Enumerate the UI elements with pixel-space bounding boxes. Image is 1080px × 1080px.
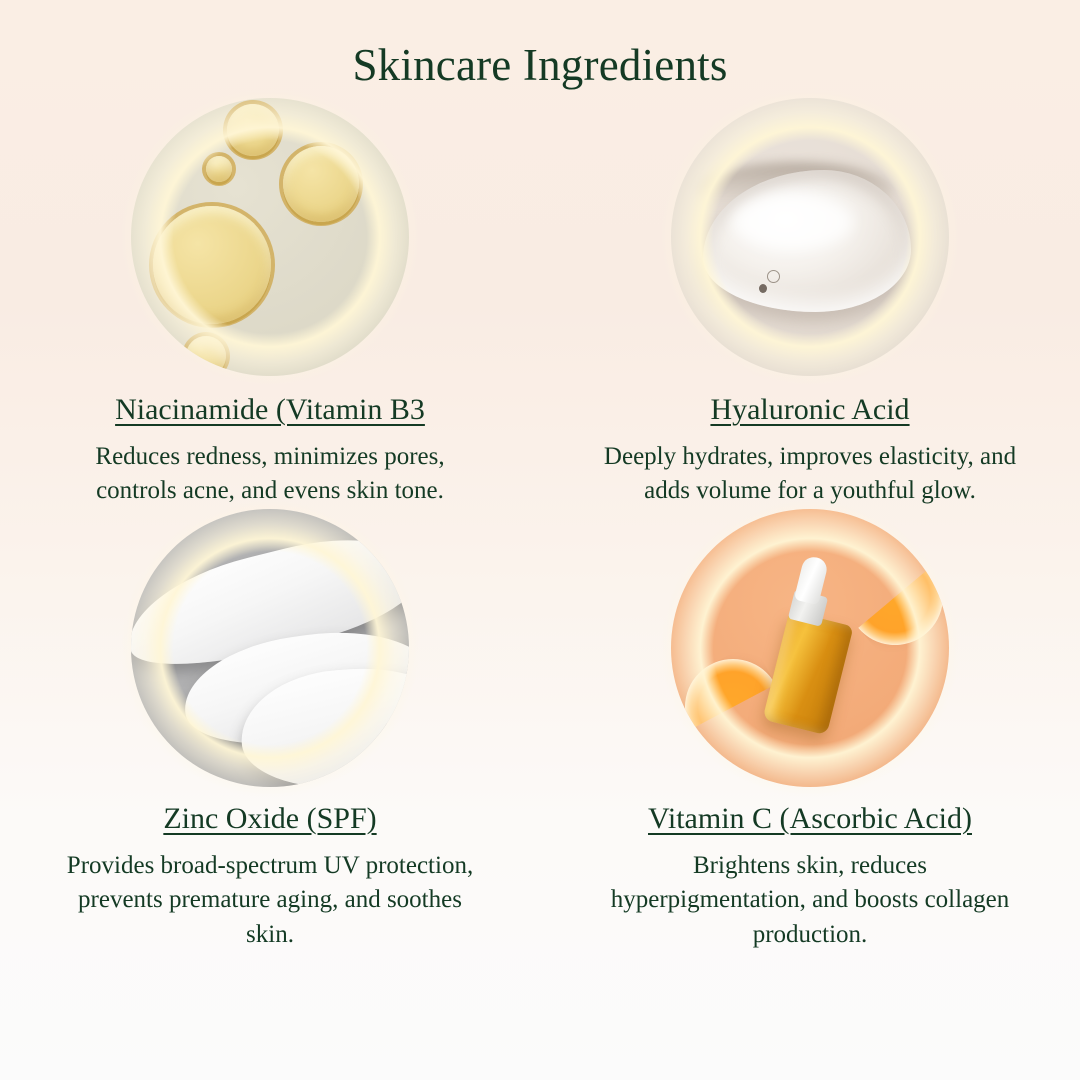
ingredient-card-zinc-oxide: Zinc Oxide (SPF) Provides broad-spectrum… xyxy=(0,509,540,953)
swatch-wrap-hyaluronic-acid xyxy=(671,98,949,376)
oil-droplets-swatch xyxy=(131,98,409,376)
swatch-wrap-zinc-oxide xyxy=(131,509,409,787)
gel-bubble-ring-icon xyxy=(767,270,780,283)
swatch-wrap-niacinamide xyxy=(131,98,409,376)
ingredient-card-niacinamide: Niacinamide (Vitamin B3 Reduces redness,… xyxy=(0,98,540,509)
oil-drop-large-icon xyxy=(153,206,271,324)
swatch-wrap-vitamin-c xyxy=(671,509,949,787)
ingredient-grid: Niacinamide (Vitamin B3 Reduces redness,… xyxy=(0,98,1080,953)
clear-gel-swatch xyxy=(671,98,949,376)
ingredient-description: Deeply hydrates, improves elasticity, an… xyxy=(600,440,1020,509)
gel-highlight xyxy=(733,194,853,250)
white-cream-swatch xyxy=(131,509,409,787)
ingredient-name: Niacinamide (Vitamin B3 xyxy=(115,392,425,428)
serum-bottle-icon xyxy=(762,610,853,735)
vitamin-c-serum-swatch xyxy=(671,509,949,787)
oil-drop-bottom-icon xyxy=(186,336,226,376)
infographic-page: Skincare Ingredients Niacinamide (Vitami… xyxy=(0,0,1080,1080)
ingredient-name: Vitamin C (Ascorbic Acid) xyxy=(648,801,972,837)
ingredient-description: Reduces redness, minimizes pores, contro… xyxy=(60,440,480,509)
oil-drop-medium-icon xyxy=(283,146,359,222)
ingredient-name: Hyaluronic Acid xyxy=(710,392,909,428)
ingredient-name: Zinc Oxide (SPF) xyxy=(163,801,376,837)
page-title: Skincare Ingredients xyxy=(0,0,1080,92)
oil-drop-top-icon xyxy=(227,104,279,156)
ingredient-description: Brightens skin, reduces hyperpigmentatio… xyxy=(600,849,1020,953)
ingredient-card-vitamin-c: Vitamin C (Ascorbic Acid) Brightens skin… xyxy=(540,509,1080,953)
ingredient-card-hyaluronic-acid: Hyaluronic Acid Deeply hydrates, improve… xyxy=(540,98,1080,509)
gel-bubble-dot-icon xyxy=(759,284,767,293)
ingredient-description: Provides broad-spectrum UV protection, p… xyxy=(60,849,480,953)
oil-drop-small-icon xyxy=(206,156,232,182)
